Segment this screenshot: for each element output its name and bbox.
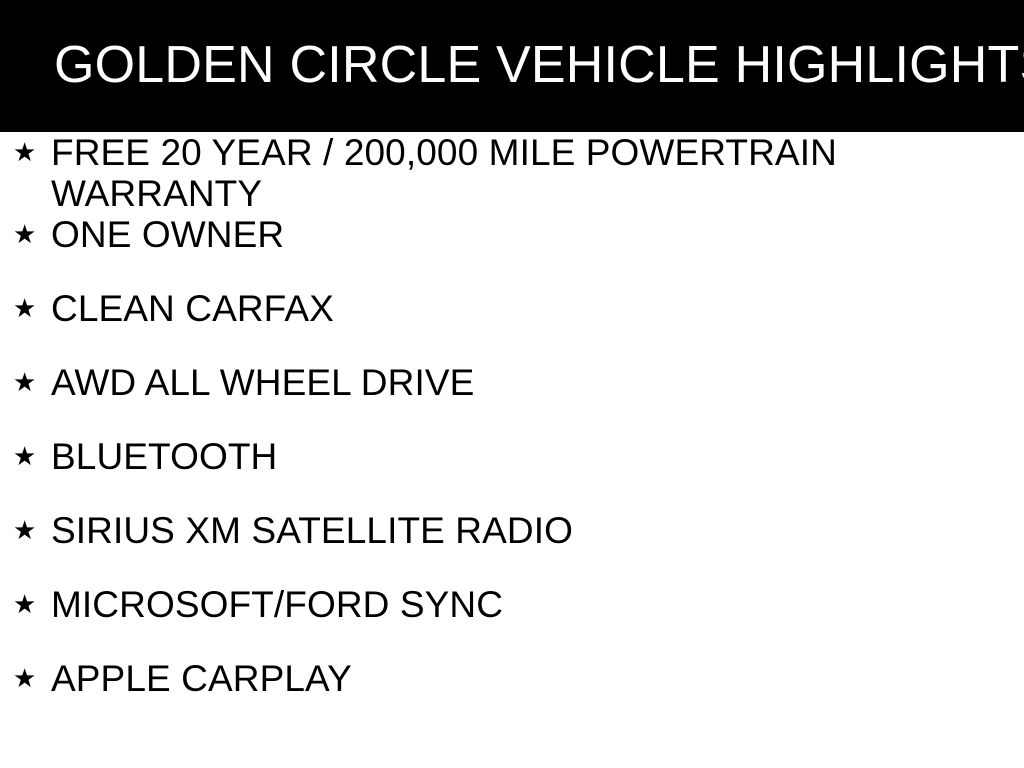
star-icon: ★ [13,362,39,403]
list-item-label: ONE OWNER [51,214,841,255]
star-icon: ★ [13,214,39,255]
vehicle-highlights-slide: GOLDEN CIRCLE VEHICLE HIGHLIGHTS ★ FREE … [0,0,1024,768]
star-icon: ★ [13,132,39,173]
star-icon: ★ [13,584,39,625]
list-item-label: MICROSOFT/FORD SYNC [51,584,841,625]
list-item: ★ MICROSOFT/FORD SYNC [0,584,1024,658]
star-icon: ★ [13,436,39,477]
list-item: ★ APPLE CARPLAY [0,658,1024,732]
star-icon: ★ [13,658,39,699]
star-icon: ★ [13,288,39,329]
list-item: ★ FREE 20 YEAR / 200,000 MILE POWERTRAIN… [0,132,1024,214]
list-item: ★ BLUETOOTH [0,436,1024,510]
highlights-list: ★ FREE 20 YEAR / 200,000 MILE POWERTRAIN… [0,132,1024,732]
header-banner: GOLDEN CIRCLE VEHICLE HIGHLIGHTS [0,0,1024,132]
star-icon: ★ [13,510,39,551]
list-item: ★ CLEAN CARFAX [0,288,1024,362]
list-item: ★ SIRIUS XM SATELLITE RADIO [0,510,1024,584]
list-item-label: APPLE CARPLAY [51,658,841,699]
list-item-label: BLUETOOTH [51,436,841,477]
list-item-label: CLEAN CARFAX [51,288,841,329]
list-item-label: AWD ALL WHEEL DRIVE [51,362,841,403]
list-item-label: FREE 20 YEAR / 200,000 MILE POWERTRAIN W… [51,132,841,214]
list-item: ★ AWD ALL WHEEL DRIVE [0,362,1024,436]
list-item: ★ ONE OWNER [0,214,1024,288]
page-title: GOLDEN CIRCLE VEHICLE HIGHLIGHTS [0,38,1024,93]
list-item-label: SIRIUS XM SATELLITE RADIO [51,510,841,551]
